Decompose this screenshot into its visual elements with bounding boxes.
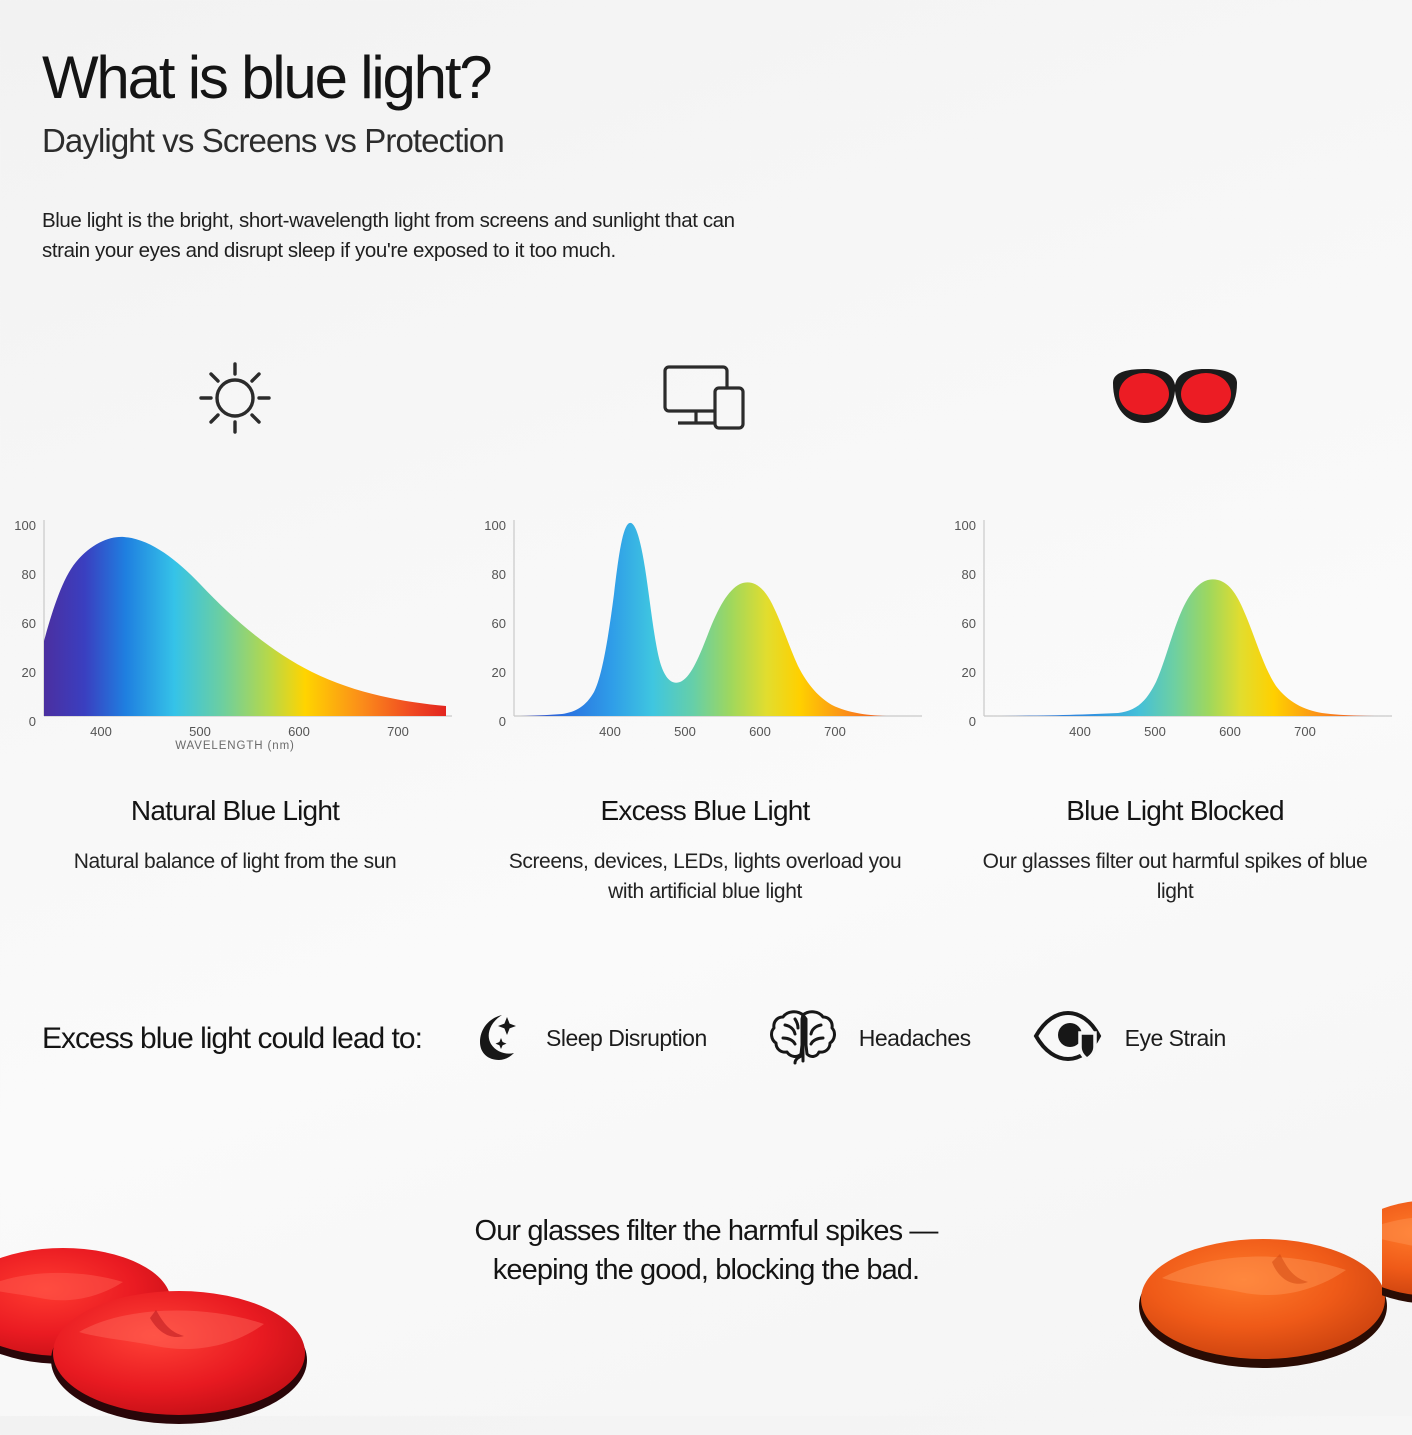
eye-shield-icon <box>1033 1009 1103 1068</box>
sun-icon <box>0 352 470 444</box>
x-tick-400: 400 <box>599 724 621 739</box>
x-tick-700: 700 <box>1294 724 1316 739</box>
page-title: What is blue light? <box>42 48 1412 108</box>
spectrum-panels: 0 20 60 80 100 400 500 600 700 <box>0 352 1412 744</box>
header: What is blue light? Daylight vs Screens … <box>0 0 1412 267</box>
panel-blue-light-blocked: 0 20 60 80 100 400 500 600 700 <box>940 352 1410 744</box>
panel-excess-blue-light: 0 20 60 80 100 400 500 600 700 <box>470 352 940 744</box>
y-tick-80: 80 <box>962 567 976 582</box>
caption-description: Natural balance of light from the sun <box>30 847 440 877</box>
panel-natural-blue-light: 0 20 60 80 100 400 500 600 700 <box>0 352 470 744</box>
caption-description: Our glasses filter out harmful spikes of… <box>970 847 1380 908</box>
chart-excess-blue-light: 0 20 60 80 100 400 500 600 700 <box>470 444 940 744</box>
y-tick-60: 60 <box>22 616 36 631</box>
x-tick-400: 400 <box>1069 724 1091 739</box>
symptoms-row: Excess blue light could lead to: Sleep D… <box>42 1005 1382 1072</box>
y-tick-80: 80 <box>492 567 506 582</box>
y-tick-20: 20 <box>962 665 976 680</box>
x-tick-700: 700 <box>387 724 409 739</box>
y-tick-80: 80 <box>22 567 36 582</box>
x-tick-700: 700 <box>824 724 846 739</box>
footer-line-1: Our glasses filter the harmful spikes — <box>0 1212 1412 1251</box>
monitor-phone-icon <box>470 352 940 444</box>
y-tick-60: 60 <box>962 616 976 631</box>
x-tick-600: 600 <box>288 724 310 739</box>
panel-captions: Natural Blue Light Natural balance of li… <box>0 795 1412 908</box>
x-axis-label: WAVELENGTH (nm) <box>0 740 470 752</box>
moon-sparkle-icon <box>462 1005 524 1072</box>
caption-blocked: Blue Light Blocked Our glasses filter ou… <box>940 795 1410 908</box>
y-tick-0: 0 <box>969 714 976 729</box>
y-tick-100: 100 <box>954 518 976 533</box>
red-glasses-icon <box>940 352 1410 444</box>
symptom-label: Eye Strain <box>1125 1025 1226 1052</box>
y-tick-60: 60 <box>492 616 506 631</box>
brain-icon <box>769 1005 837 1072</box>
intro-paragraph: Blue light is the bright, short-waveleng… <box>42 206 782 267</box>
spectrum-area <box>984 574 1392 716</box>
y-tick-20: 20 <box>492 665 506 680</box>
caption-excess: Excess Blue Light Screens, devices, LEDs… <box>470 795 940 908</box>
x-tick-600: 600 <box>1219 724 1241 739</box>
spectrum-area <box>514 514 922 716</box>
x-tick-400: 400 <box>90 724 112 739</box>
spectrum-area <box>44 520 452 716</box>
chart-natural-blue-light: 0 20 60 80 100 400 500 600 700 <box>0 444 470 744</box>
symptoms-lead-text: Excess blue light could lead to: <box>42 1019 462 1058</box>
page-subtitle: Daylight vs Screens vs Protection <box>42 122 1412 160</box>
footer-tagline: Our glasses filter the harmful spikes — … <box>0 1212 1412 1290</box>
symptom-eye-strain: Eye Strain <box>1033 1009 1226 1068</box>
caption-title: Natural Blue Light <box>30 795 440 827</box>
footer-line-2: keeping the good, blocking the bad. <box>0 1251 1412 1290</box>
y-tick-100: 100 <box>484 518 506 533</box>
y-tick-0: 0 <box>499 714 506 729</box>
caption-description: Screens, devices, LEDs, lights overload … <box>500 847 910 908</box>
y-tick-20: 20 <box>22 665 36 680</box>
y-tick-100: 100 <box>14 518 36 533</box>
symptom-label: Sleep Disruption <box>546 1025 707 1052</box>
symptom-sleep-disruption: Sleep Disruption <box>462 1005 707 1072</box>
x-tick-600: 600 <box>749 724 771 739</box>
red-lens-decoration <box>44 1280 314 1435</box>
symptom-headaches: Headaches <box>769 1005 971 1072</box>
symptom-label: Headaches <box>859 1025 971 1052</box>
x-tick-500: 500 <box>1144 724 1166 739</box>
y-tick-0: 0 <box>29 714 36 729</box>
caption-title: Excess Blue Light <box>500 795 910 827</box>
x-tick-500: 500 <box>674 724 696 739</box>
chart-blue-light-blocked: 0 20 60 80 100 400 500 600 700 <box>940 444 1410 744</box>
caption-natural: Natural Blue Light Natural balance of li… <box>0 795 470 908</box>
caption-title: Blue Light Blocked <box>970 795 1380 827</box>
x-tick-500: 500 <box>189 724 211 739</box>
